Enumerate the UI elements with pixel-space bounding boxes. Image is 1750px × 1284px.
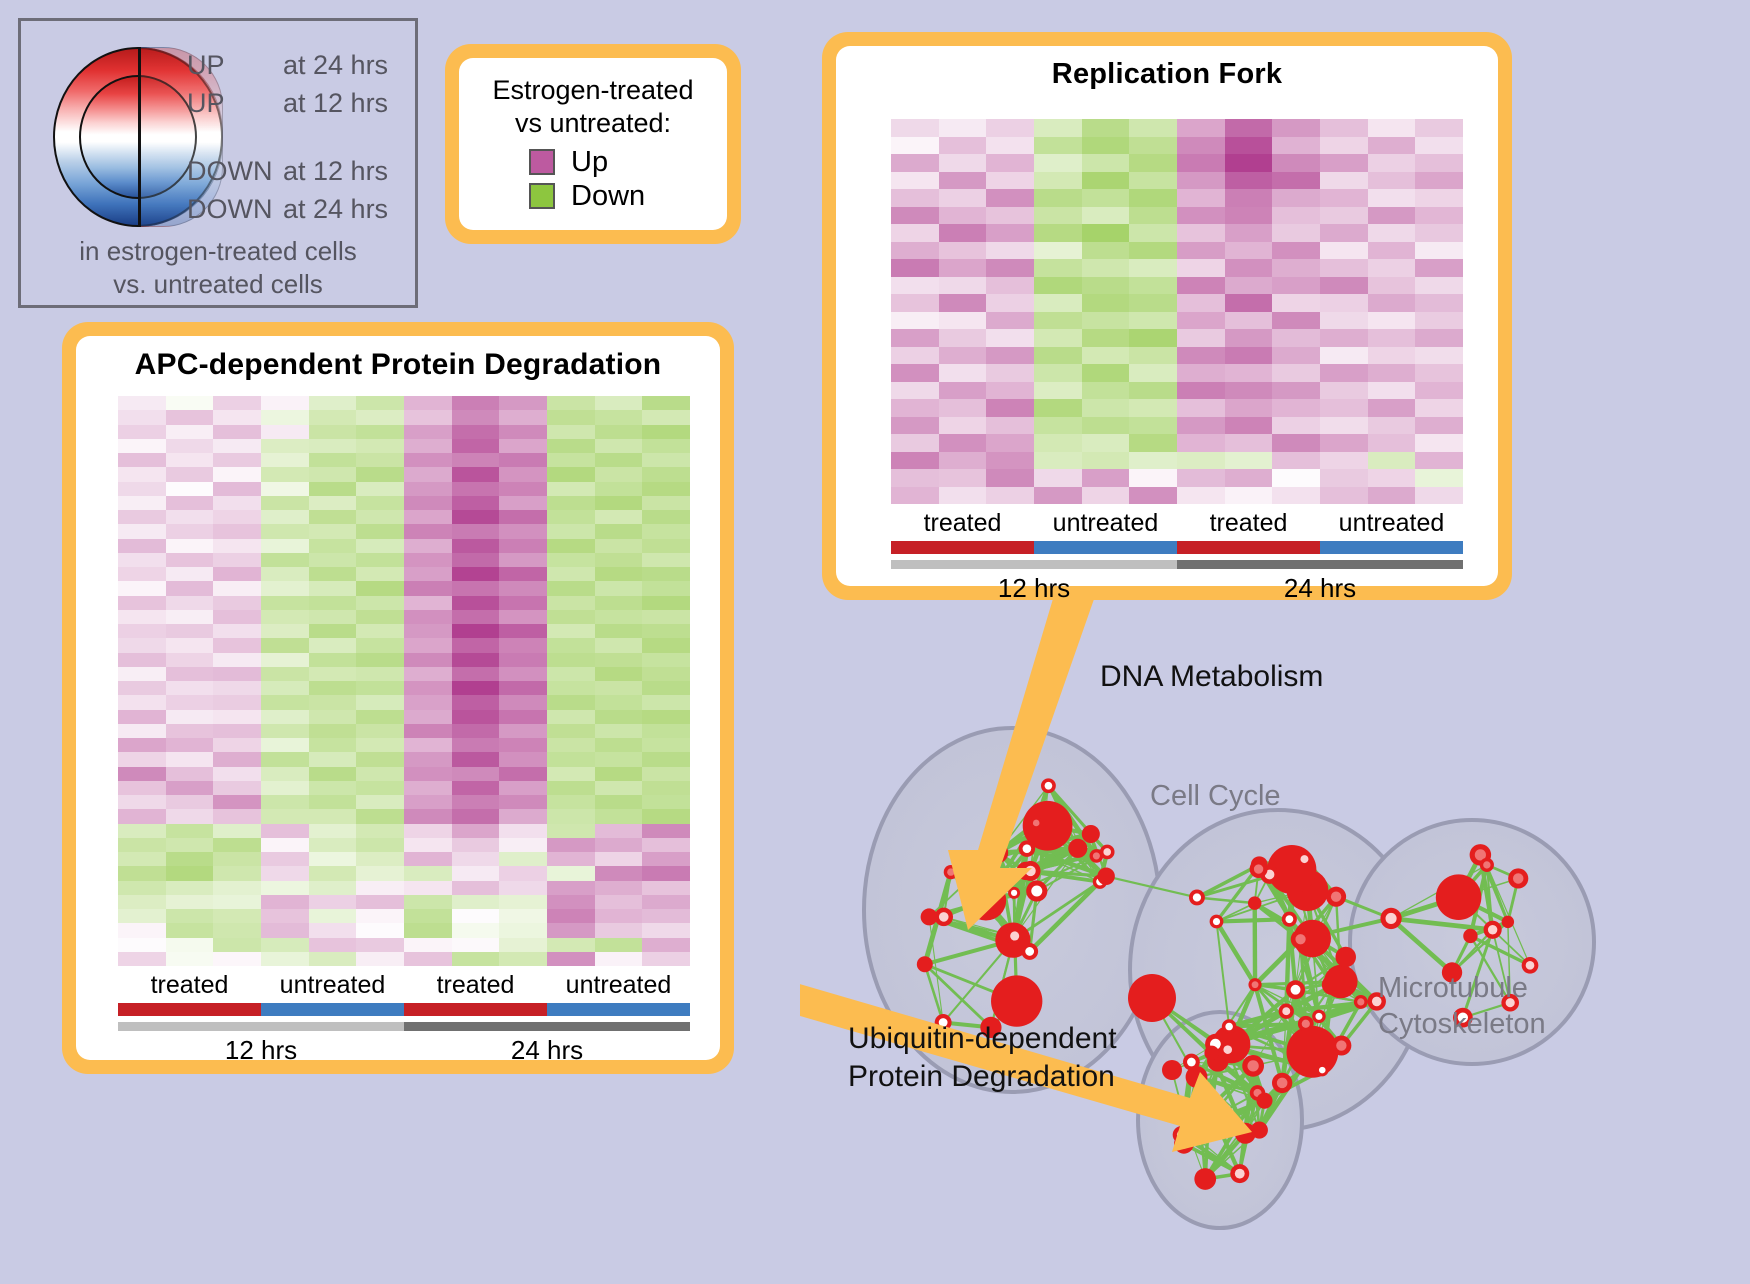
- heat-cell: [261, 923, 309, 937]
- heat-cell: [261, 952, 309, 966]
- heat-cell: [1082, 259, 1130, 277]
- heat-cell: [452, 710, 500, 724]
- network-node-core: [1254, 864, 1263, 873]
- heat-cell: [595, 410, 643, 424]
- cond-bar-rf-3: [1320, 541, 1463, 554]
- heat-cell: [356, 923, 404, 937]
- heat-cell: [404, 425, 452, 439]
- heat-cell: [1177, 347, 1225, 365]
- heat-cell: [547, 667, 595, 681]
- heat-cell: [1129, 434, 1177, 452]
- heat-cell: [452, 653, 500, 667]
- heat-cell: [986, 364, 1034, 382]
- heat-cell: [547, 752, 595, 766]
- heat-cell: [1129, 172, 1177, 190]
- network-node[interactable]: [917, 956, 933, 972]
- heat-cell: [356, 596, 404, 610]
- heat-cell: [213, 439, 261, 453]
- heat-cell: [1034, 347, 1082, 365]
- heat-cell: [356, 638, 404, 652]
- heat-cell: [118, 667, 166, 681]
- heat-cell: [1129, 312, 1177, 330]
- timepoint-labels-apc: 12 hrs 24 hrs: [118, 1033, 690, 1067]
- heat-cell: [404, 738, 452, 752]
- heat-cell: [118, 710, 166, 724]
- heat-cell: [939, 312, 987, 330]
- heat-cell: [1129, 224, 1177, 242]
- heat-cell: [1415, 469, 1463, 487]
- heat-cell: [891, 224, 939, 242]
- heat-cell: [1272, 154, 1320, 172]
- heat-cell: [1129, 364, 1177, 382]
- heat-cell: [891, 469, 939, 487]
- heat-cell: [166, 952, 214, 966]
- heat-cell: [213, 624, 261, 638]
- heat-cell: [939, 399, 987, 417]
- network-node[interactable]: [1335, 947, 1356, 968]
- heat-cell: [1082, 172, 1130, 190]
- heat-cell: [356, 724, 404, 738]
- heat-cell: [356, 653, 404, 667]
- heat-cell: [118, 439, 166, 453]
- network-node[interactable]: [1286, 1026, 1338, 1078]
- heat-cell: [404, 881, 452, 895]
- heat-cell: [404, 410, 452, 424]
- cond-label-apc-0: treated: [118, 970, 261, 1000]
- heat-cell: [1320, 224, 1368, 242]
- network-node-core: [1033, 820, 1040, 827]
- network-node-core: [1319, 1067, 1326, 1074]
- heat-cell: [595, 610, 643, 624]
- heat-cell: [1272, 259, 1320, 277]
- heat-cell: [547, 553, 595, 567]
- network-node-core: [1213, 918, 1220, 925]
- heat-cell: [1177, 172, 1225, 190]
- heat-cell: [986, 119, 1034, 137]
- heat-cell: [986, 259, 1034, 277]
- heat-cell: [166, 724, 214, 738]
- heat-cell: [1034, 172, 1082, 190]
- heat-cell: [356, 838, 404, 852]
- heat-cell: [547, 781, 595, 795]
- heat-cell: [309, 425, 357, 439]
- heat-cell: [1368, 137, 1416, 155]
- heat-cell: [642, 453, 690, 467]
- heat-cell: [499, 909, 547, 923]
- heat-cell: [309, 439, 357, 453]
- heat-cell: [452, 809, 500, 823]
- heat-cell: [118, 695, 166, 709]
- heat-cell: [452, 524, 500, 538]
- heat-cell: [356, 510, 404, 524]
- heat-cell: [642, 510, 690, 524]
- heat-cell: [404, 524, 452, 538]
- network-node-core: [1187, 1058, 1196, 1067]
- heat-cell: [166, 895, 214, 909]
- heat-cell: [118, 396, 166, 410]
- network-node[interactable]: [1068, 839, 1087, 858]
- network-node[interactable]: [1256, 1093, 1272, 1109]
- heat-cell: [1415, 452, 1463, 470]
- heat-cell: [166, 653, 214, 667]
- heat-cell: [547, 496, 595, 510]
- heat-cell: [261, 425, 309, 439]
- network-node-core: [1331, 891, 1341, 901]
- heat-cell: [1177, 382, 1225, 400]
- heat-cell: [166, 596, 214, 610]
- heat-cell: [213, 567, 261, 581]
- swatch-down-icon: [529, 183, 555, 209]
- heat-cell: [213, 695, 261, 709]
- network-node[interactable]: [1322, 975, 1342, 995]
- wheel-state-3: DOWN: [187, 195, 272, 224]
- heat-cell: [642, 396, 690, 410]
- heat-cell: [939, 469, 987, 487]
- heat-cell: [1415, 189, 1463, 207]
- heat-cell: [213, 596, 261, 610]
- heat-cell: [642, 738, 690, 752]
- heat-cell: [118, 923, 166, 937]
- heat-cell: [1368, 172, 1416, 190]
- heat-cell: [452, 610, 500, 624]
- wheel-when-1: at 12 hrs: [283, 89, 388, 118]
- heat-cell: [1320, 434, 1368, 452]
- heat-cell: [1415, 399, 1463, 417]
- colorwheel-footer-line2: vs. untreated cells: [21, 268, 415, 301]
- heat-cell: [1034, 469, 1082, 487]
- heat-cell: [118, 866, 166, 880]
- heat-cell: [1272, 399, 1320, 417]
- heat-cell: [404, 596, 452, 610]
- heat-cell: [1320, 399, 1368, 417]
- network-node-core: [1300, 855, 1308, 863]
- heat-cell: [1272, 172, 1320, 190]
- heat-cell: [1225, 207, 1273, 225]
- heat-cell: [1320, 154, 1368, 172]
- heat-cell: [166, 624, 214, 638]
- network-node[interactable]: [1128, 974, 1176, 1022]
- heat-cell: [404, 482, 452, 496]
- heat-cell: [1320, 207, 1368, 225]
- heat-cell: [891, 417, 939, 435]
- heat-cell: [166, 710, 214, 724]
- cond-bar-apc-3: [547, 1003, 690, 1016]
- heat-cell: [309, 895, 357, 909]
- heat-cell: [1225, 487, 1273, 505]
- heat-cell: [1034, 312, 1082, 330]
- heat-cell: [1320, 277, 1368, 295]
- heat-cell: [404, 610, 452, 624]
- heat-cell: [547, 809, 595, 823]
- heat-cell: [166, 938, 214, 952]
- heat-cell: [213, 881, 261, 895]
- heat-cell: [499, 681, 547, 695]
- heat-cell: [1034, 399, 1082, 417]
- heat-cell: [986, 154, 1034, 172]
- heat-cell: [213, 425, 261, 439]
- heat-cell: [499, 410, 547, 424]
- heat-cell: [404, 909, 452, 923]
- heat-cell: [499, 795, 547, 809]
- heat-cell: [1368, 189, 1416, 207]
- heat-cell: [891, 434, 939, 452]
- heat-cell: [891, 487, 939, 505]
- cond-label-rf-2: treated: [1177, 508, 1320, 538]
- heat-cell: [118, 724, 166, 738]
- heat-cell: [642, 952, 690, 966]
- heat-cell: [118, 610, 166, 624]
- network-node[interactable]: [1248, 896, 1261, 909]
- heat-cell: [1272, 207, 1320, 225]
- heat-cell: [309, 809, 357, 823]
- heat-cell: [1177, 277, 1225, 295]
- network-node-core: [1285, 915, 1293, 923]
- heat-cell: [595, 824, 643, 838]
- heat-cell: [261, 695, 309, 709]
- heat-cell: [642, 638, 690, 652]
- heat-cell: [1177, 487, 1225, 505]
- heat-cell: [891, 119, 939, 137]
- heat-cell: [891, 277, 939, 295]
- heat-cell: [213, 510, 261, 524]
- heat-cell: [1272, 469, 1320, 487]
- heat-cell: [1368, 347, 1416, 365]
- heat-cell: [499, 724, 547, 738]
- heat-cell: [1320, 259, 1368, 277]
- heat-cell: [642, 425, 690, 439]
- heat-cell: [891, 172, 939, 190]
- heat-cell: [166, 781, 214, 795]
- heat-cell: [595, 539, 643, 553]
- heat-cell: [1082, 224, 1130, 242]
- network-node[interactable]: [1097, 868, 1114, 885]
- heat-cell: [261, 581, 309, 595]
- time-bar-apc-12: [118, 1022, 404, 1031]
- heat-cell: [986, 137, 1034, 155]
- heat-cell: [452, 482, 500, 496]
- network-node-core: [1023, 844, 1032, 853]
- heat-cell: [166, 852, 214, 866]
- heat-cell: [118, 938, 166, 952]
- heat-cell: [547, 510, 595, 524]
- heat-cell: [595, 496, 643, 510]
- heat-cell: [642, 653, 690, 667]
- heat-cell: [213, 638, 261, 652]
- heat-cell: [166, 396, 214, 410]
- heat-cell: [891, 399, 939, 417]
- heat-cell: [595, 667, 643, 681]
- heat-cell: [1225, 417, 1273, 435]
- heat-cell: [986, 277, 1034, 295]
- heat-cell: [166, 767, 214, 781]
- heat-cell: [595, 909, 643, 923]
- heat-cell: [404, 724, 452, 738]
- heat-cell: [547, 482, 595, 496]
- heat-cell: [1320, 487, 1368, 505]
- heat-cell: [404, 567, 452, 581]
- panel-title-replication-fork: Replication Fork: [836, 46, 1498, 91]
- network-node-core: [1386, 913, 1397, 924]
- heat-cell: [547, 710, 595, 724]
- heat-cell: [499, 596, 547, 610]
- heat-cell: [939, 154, 987, 172]
- heat-cell: [166, 610, 214, 624]
- heat-cell: [452, 952, 500, 966]
- heat-cell: [642, 539, 690, 553]
- heat-cell: [166, 738, 214, 752]
- heat-cell: [499, 838, 547, 852]
- heat-cell: [499, 510, 547, 524]
- heat-cell: [1177, 329, 1225, 347]
- heat-cell: [986, 294, 1034, 312]
- cond-label-rf-1: untreated: [1034, 508, 1177, 538]
- heat-cell: [1272, 452, 1320, 470]
- heat-cell: [309, 710, 357, 724]
- heat-cell: [356, 410, 404, 424]
- heat-cell: [452, 852, 500, 866]
- heat-cell: [939, 434, 987, 452]
- heat-cell: [1272, 224, 1320, 242]
- heat-cell: [1225, 137, 1273, 155]
- cond-bar-rf-0: [891, 541, 1034, 554]
- heat-cell: [595, 710, 643, 724]
- heat-cell: [1034, 294, 1082, 312]
- updown-title-line1: Estrogen-treated: [477, 74, 709, 107]
- heat-cell: [1177, 434, 1225, 452]
- heat-cell: [595, 524, 643, 538]
- heat-cell: [939, 172, 987, 190]
- cond-bar-rf-1: [1034, 541, 1177, 554]
- heat-cell: [1368, 452, 1416, 470]
- heat-cell: [499, 567, 547, 581]
- heat-cell: [1368, 469, 1416, 487]
- heat-cell: [1129, 242, 1177, 260]
- heat-cell: [452, 681, 500, 695]
- network-node[interactable]: [1463, 929, 1477, 943]
- heat-cell: [499, 710, 547, 724]
- heat-cell: [499, 738, 547, 752]
- heat-cell: [1177, 189, 1225, 207]
- heat-cell: [213, 539, 261, 553]
- heat-cell: [1082, 207, 1130, 225]
- heat-cell: [118, 624, 166, 638]
- cond-bar-rf-2: [1177, 541, 1320, 554]
- heat-cell: [309, 681, 357, 695]
- wheel-when-0: at 24 hrs: [283, 51, 388, 80]
- heat-cell: [213, 923, 261, 937]
- heat-cell: [118, 881, 166, 895]
- heat-cell: [642, 695, 690, 709]
- heat-cell: [1320, 172, 1368, 190]
- heat-cell: [118, 453, 166, 467]
- heat-cell: [261, 567, 309, 581]
- heat-cell: [1177, 207, 1225, 225]
- heat-cell: [1082, 242, 1130, 260]
- heat-cell: [642, 895, 690, 909]
- heat-cell: [356, 909, 404, 923]
- heat-cell: [547, 581, 595, 595]
- network-node[interactable]: [1162, 1060, 1182, 1080]
- heat-cell: [261, 653, 309, 667]
- heat-cell: [213, 496, 261, 510]
- heat-cell: [452, 795, 500, 809]
- cond-bar-apc-1: [261, 1003, 404, 1016]
- network-node-core: [1025, 947, 1034, 956]
- heat-cell: [1415, 207, 1463, 225]
- network-node[interactable]: [1502, 916, 1514, 928]
- heat-cell: [356, 895, 404, 909]
- heat-cell: [547, 539, 595, 553]
- heat-cell: [986, 172, 1034, 190]
- heat-cell: [261, 596, 309, 610]
- colorwheel-legend-row: UP at 24 hrs UP at 12 hrs DOWN at 12 hrs…: [35, 33, 407, 233]
- network-node[interactable]: [1082, 825, 1100, 843]
- heat-cell: [166, 482, 214, 496]
- heat-cell: [986, 434, 1034, 452]
- heat-cell: [356, 624, 404, 638]
- heat-cell: [118, 581, 166, 595]
- heat-cell: [166, 866, 214, 880]
- heat-cell: [1368, 154, 1416, 172]
- heat-cell: [1177, 259, 1225, 277]
- heat-cell: [642, 838, 690, 852]
- heatmap-apc-degradation: [118, 396, 690, 966]
- heat-cell: [1034, 329, 1082, 347]
- heat-cell: [1225, 382, 1273, 400]
- heat-cell: [642, 824, 690, 838]
- legend-label-down: Down: [571, 180, 645, 212]
- colorwheel-footer-line1: in estrogen-treated cells: [21, 235, 415, 268]
- heat-cell: [1368, 294, 1416, 312]
- heat-cell: [309, 396, 357, 410]
- heat-cell: [499, 852, 547, 866]
- heat-cell: [1415, 294, 1463, 312]
- heat-cell: [1034, 434, 1082, 452]
- network-node[interactable]: [1436, 874, 1482, 920]
- heat-cell: [595, 624, 643, 638]
- network-node[interactable]: [1204, 1046, 1219, 1061]
- heat-cell: [356, 610, 404, 624]
- heat-cell: [261, 410, 309, 424]
- heat-cell: [642, 410, 690, 424]
- network-node[interactable]: [1194, 1168, 1216, 1190]
- network-node-core: [1291, 985, 1301, 995]
- heat-cell: [309, 653, 357, 667]
- heat-cell: [499, 496, 547, 510]
- heat-cell: [1368, 224, 1416, 242]
- heat-cell: [309, 539, 357, 553]
- heat-cell: [595, 895, 643, 909]
- heat-cell: [1320, 189, 1368, 207]
- heat-cell: [213, 553, 261, 567]
- heat-cell: [1082, 277, 1130, 295]
- heat-cell: [1415, 364, 1463, 382]
- heat-cell: [1177, 417, 1225, 435]
- heat-cell: [309, 510, 357, 524]
- heat-cell: [452, 638, 500, 652]
- heat-cell: [1225, 224, 1273, 242]
- heat-cell: [499, 482, 547, 496]
- heat-cell: [452, 923, 500, 937]
- heat-cell: [309, 610, 357, 624]
- heat-cell: [166, 539, 214, 553]
- cond-label-apc-2: treated: [404, 970, 547, 1000]
- heat-cell: [1034, 452, 1082, 470]
- heat-cell: [261, 624, 309, 638]
- heat-cell: [1368, 119, 1416, 137]
- heat-cell: [309, 624, 357, 638]
- heat-cell: [261, 866, 309, 880]
